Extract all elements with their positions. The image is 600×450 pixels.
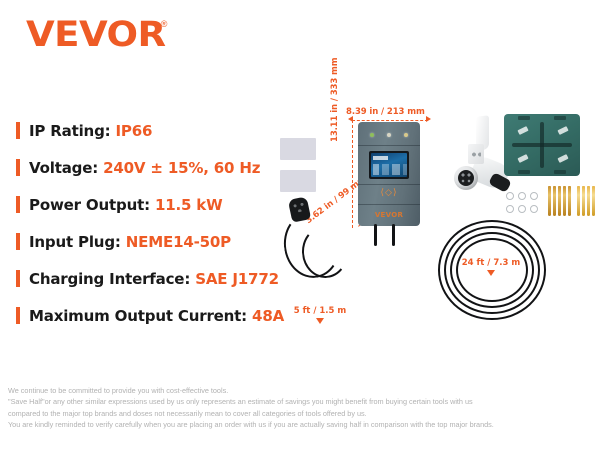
- dimension-line-width: [352, 120, 428, 121]
- charger-cable-outlet-left: [374, 224, 377, 246]
- accessory-card-bottom: [280, 170, 316, 192]
- cable-length-label-input: 5 ft / 1.5 m: [294, 306, 347, 316]
- screw-icon: [548, 186, 551, 216]
- holster-mount-plate: [468, 144, 484, 164]
- washer-icon: [518, 205, 526, 213]
- bullet-marker-icon: [16, 270, 20, 287]
- charger-seam: [358, 184, 420, 185]
- anchor-icon: [577, 186, 580, 216]
- spec-text: Power Output: 11.5 kW: [29, 196, 223, 214]
- spec-label: Maximum Output Current:: [29, 307, 247, 325]
- cable-length-callout-input: 5 ft / 1.5 m: [290, 306, 350, 324]
- disclaimer-line: compared to the major top brands and dos…: [8, 409, 594, 419]
- disclaimer-line: You are kindly reminded to verify carefu…: [8, 420, 594, 430]
- washer-icon: [518, 192, 526, 200]
- cable-length-callout-output: 24 ft / 7.3 m: [458, 258, 524, 276]
- dimension-arrow-right-icon: [426, 116, 431, 122]
- screw-set: [548, 186, 596, 220]
- mount-tab: [554, 170, 566, 174]
- accessory-card-top: [280, 138, 316, 160]
- screw-icon: [553, 186, 556, 216]
- dimension-label-width: 8.39 in / 213 mm: [346, 107, 425, 117]
- disclaimer-line: We continue to be committed to provide y…: [8, 386, 594, 396]
- disclaimer-line: "Save Half"or any other similar expressi…: [8, 397, 594, 407]
- mount-hole-marker: [517, 126, 528, 135]
- anchor-icon: [582, 186, 585, 216]
- brand-logo: VEVOR ®: [26, 18, 167, 53]
- spec-text: Input Plug: NEME14-50P: [29, 233, 231, 251]
- charger-lcd-screen: [371, 153, 407, 177]
- spec-label: Charging Interface:: [29, 270, 190, 288]
- dimension-line-height: [352, 120, 353, 228]
- disclaimer-block: We continue to be committed to provide y…: [8, 386, 594, 432]
- spec-value: 240V ± 15%, 60 Hz: [103, 159, 260, 177]
- status-led-fault-icon: [404, 133, 408, 137]
- brand-logo-text: VEVOR: [26, 18, 166, 53]
- anchor-icon: [592, 186, 595, 216]
- spec-value: IP66: [116, 122, 153, 140]
- screw-icon: [558, 186, 561, 216]
- bullet-marker-icon: [16, 196, 20, 213]
- product-image-area: 8.39 in / 213 mm 13.11 in / 333 mm 3.62 …: [262, 100, 600, 370]
- spec-value: NEME14-50P: [126, 233, 231, 251]
- charging-symbol-icon: ⟨◇⟩: [358, 188, 420, 198]
- mount-hole-marker: [557, 126, 568, 135]
- charger-cable-outlet-right: [392, 224, 395, 246]
- bullet-marker-icon: [16, 122, 20, 139]
- status-led-power-icon: [370, 133, 374, 137]
- spec-text: Charging Interface: SAE J1772: [29, 270, 279, 288]
- washer-icon: [506, 205, 514, 213]
- spec-text: IP Rating: IP66: [29, 122, 152, 140]
- spec-text: Voltage: 240V ± 15%, 60 Hz: [29, 159, 260, 177]
- spec-label: Input Plug:: [29, 233, 121, 251]
- anchor-icon: [587, 186, 590, 216]
- spec-label: Power Output:: [29, 196, 150, 214]
- ev-charger-unit: ⟨◇⟩ VEVOR: [358, 122, 420, 226]
- bullet-marker-icon: [16, 233, 20, 250]
- connector-holster-bracket: [468, 116, 494, 166]
- pointer-triangle-icon: [316, 318, 324, 324]
- charger-brand-label: VEVOR: [358, 211, 420, 219]
- connector-head: [454, 166, 478, 190]
- charger-display-bezel: [369, 151, 409, 179]
- spec-value: 11.5 kW: [155, 196, 223, 214]
- mount-slot-horizontal: [512, 143, 572, 147]
- spec-label: Voltage:: [29, 159, 98, 177]
- bullet-marker-icon: [16, 307, 20, 324]
- mount-tab: [518, 116, 530, 120]
- washer-set: [506, 192, 540, 214]
- washer-icon: [530, 192, 538, 200]
- washer-icon: [530, 205, 538, 213]
- mount-hole-marker: [517, 154, 528, 163]
- screw-icon: [568, 186, 571, 216]
- dimension-label-height: 13.11 in / 333 mm: [330, 57, 340, 142]
- charger-seam: [358, 204, 420, 205]
- wall-mounting-plate: [504, 114, 580, 176]
- charger-seam: [358, 145, 420, 146]
- pointer-triangle-icon: [487, 270, 495, 276]
- spec-text: Maximum Output Current: 48A: [29, 307, 284, 325]
- mount-tab: [554, 116, 566, 120]
- screw-icon: [563, 186, 566, 216]
- spec-label: IP Rating:: [29, 122, 110, 140]
- cable-length-label-output: 24 ft / 7.3 m: [462, 258, 520, 268]
- washer-icon: [506, 192, 514, 200]
- mount-hole-marker: [557, 154, 568, 163]
- bullet-marker-icon: [16, 159, 20, 176]
- status-led-link-icon: [387, 133, 391, 137]
- connector-pin-face-icon: [458, 170, 474, 186]
- mount-tab: [518, 170, 530, 174]
